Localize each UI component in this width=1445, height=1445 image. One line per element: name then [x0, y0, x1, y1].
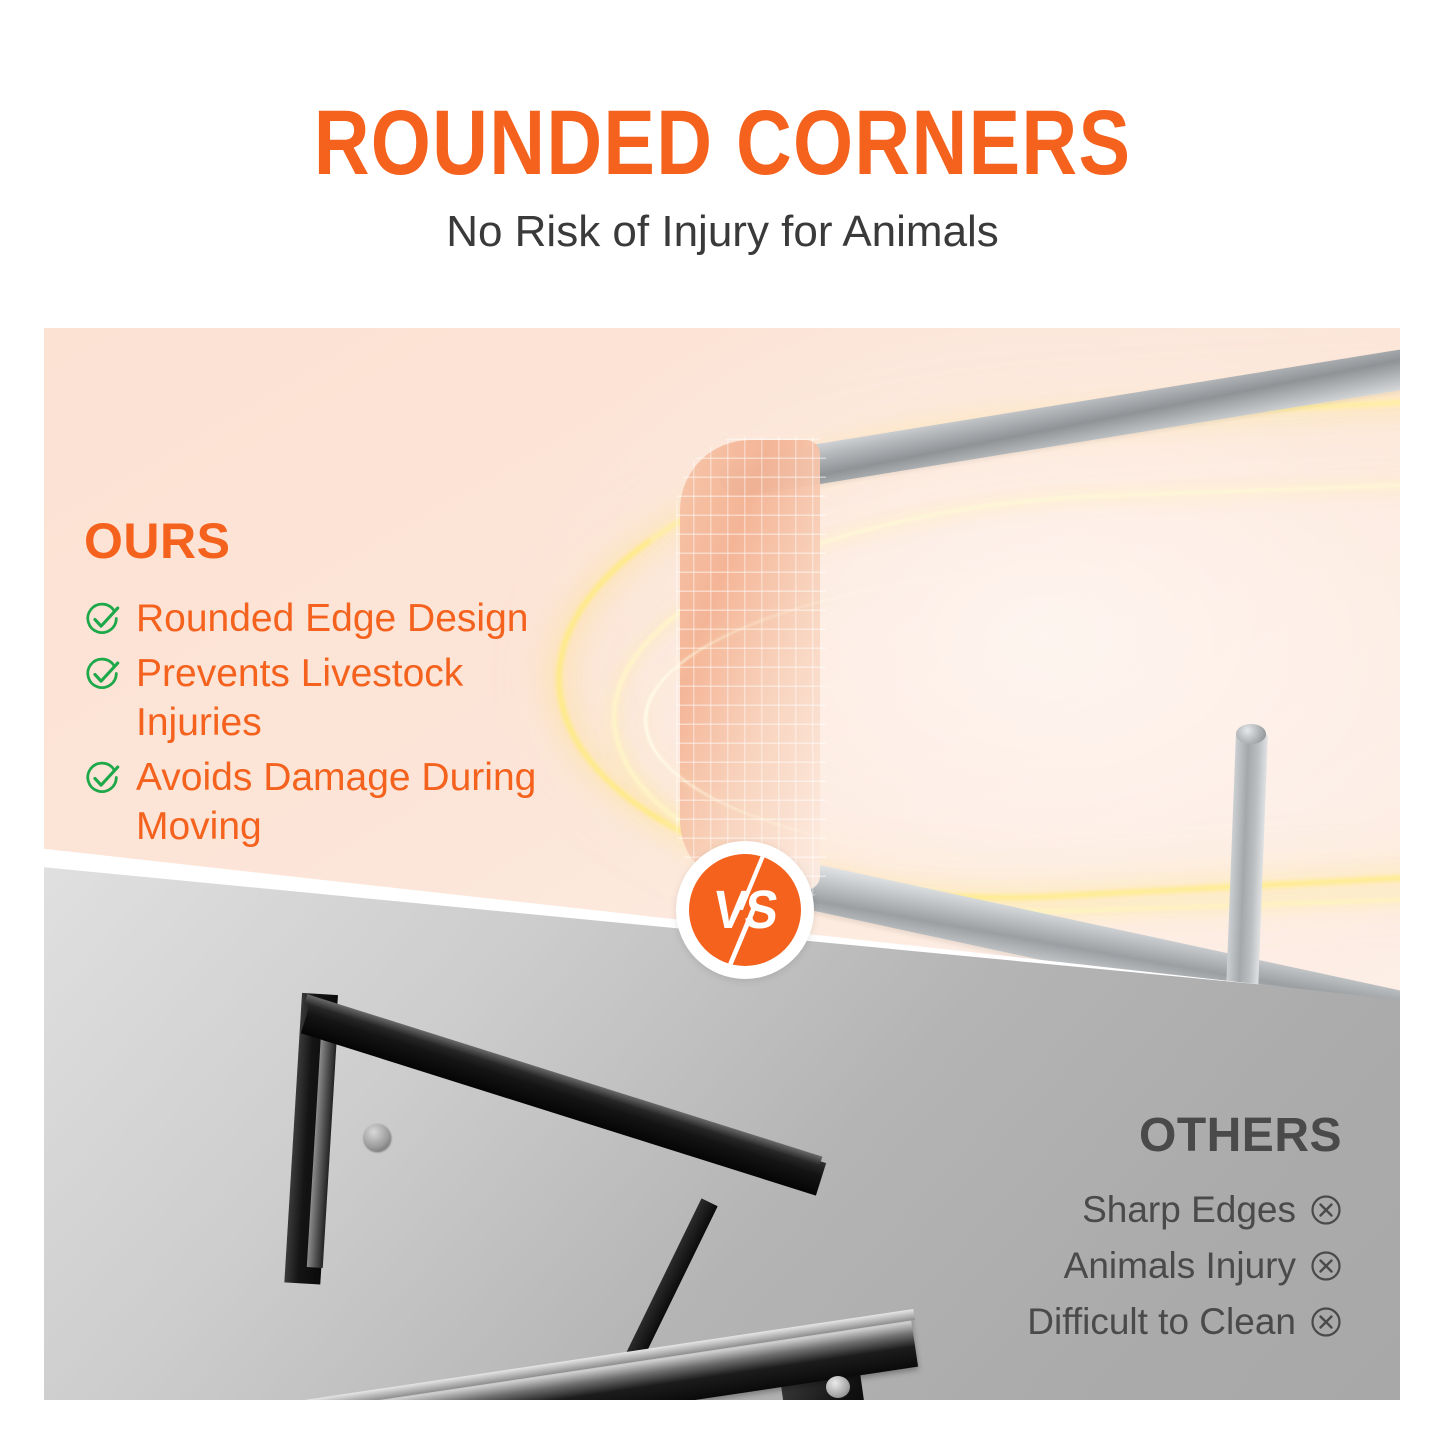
ours-item-label: Rounded Edge Design — [136, 594, 528, 643]
others-item-label: Animals Injury — [1064, 1244, 1296, 1288]
others-list-item: Animals Injury — [782, 1244, 1342, 1288]
ours-list-item: Rounded Edge Design — [84, 594, 604, 643]
vs-badge: VS — [676, 841, 814, 979]
page-subtitle: No Risk of Injury for Animals — [0, 206, 1445, 258]
ours-text-block: OURS Rounded Edge Design Prev — [84, 514, 604, 857]
others-item-label: Sharp Edges — [1082, 1188, 1296, 1232]
others-list-item: Sharp Edges — [782, 1188, 1342, 1232]
others-text-block: OTHERS Sharp Edges Animals Injury — [782, 1110, 1342, 1356]
ours-item-label: Prevents Livestock Injuries — [136, 649, 556, 747]
others-title: OTHERS — [782, 1110, 1342, 1162]
ours-title: OURS — [84, 514, 604, 568]
ours-list-item: Avoids Damage During Moving — [84, 753, 604, 851]
x-circle-icon — [1310, 1250, 1342, 1282]
header: ROUNDED CORNERS No Risk of Injury for An… — [0, 0, 1445, 300]
ours-list-item: Prevents Livestock Injuries — [84, 649, 604, 747]
vs-badge-circle: VS — [689, 854, 801, 966]
frame-bolt — [364, 1124, 391, 1151]
check-circle-icon — [84, 759, 122, 797]
ours-item-label: Avoids Damage During Moving — [136, 753, 556, 851]
x-circle-icon — [1310, 1194, 1342, 1226]
others-list-item: Difficult to Clean — [782, 1300, 1342, 1344]
tube-post-cap — [1236, 724, 1266, 744]
corner-mesh-overlay — [676, 436, 826, 896]
frame-corner-bolt — [826, 1376, 850, 1398]
x-circle-icon — [1310, 1306, 1342, 1338]
check-circle-icon — [84, 600, 122, 638]
page-title: ROUNDED CORNERS — [116, 95, 1330, 191]
check-circle-icon — [84, 655, 122, 693]
glow-swoosh-outer — [544, 396, 1400, 924]
frame-diagonal-beam — [301, 1001, 826, 1196]
others-item-label: Difficult to Clean — [1027, 1300, 1296, 1344]
comparison-card: OTHERS Sharp Edges Animals Injury — [44, 328, 1400, 1400]
